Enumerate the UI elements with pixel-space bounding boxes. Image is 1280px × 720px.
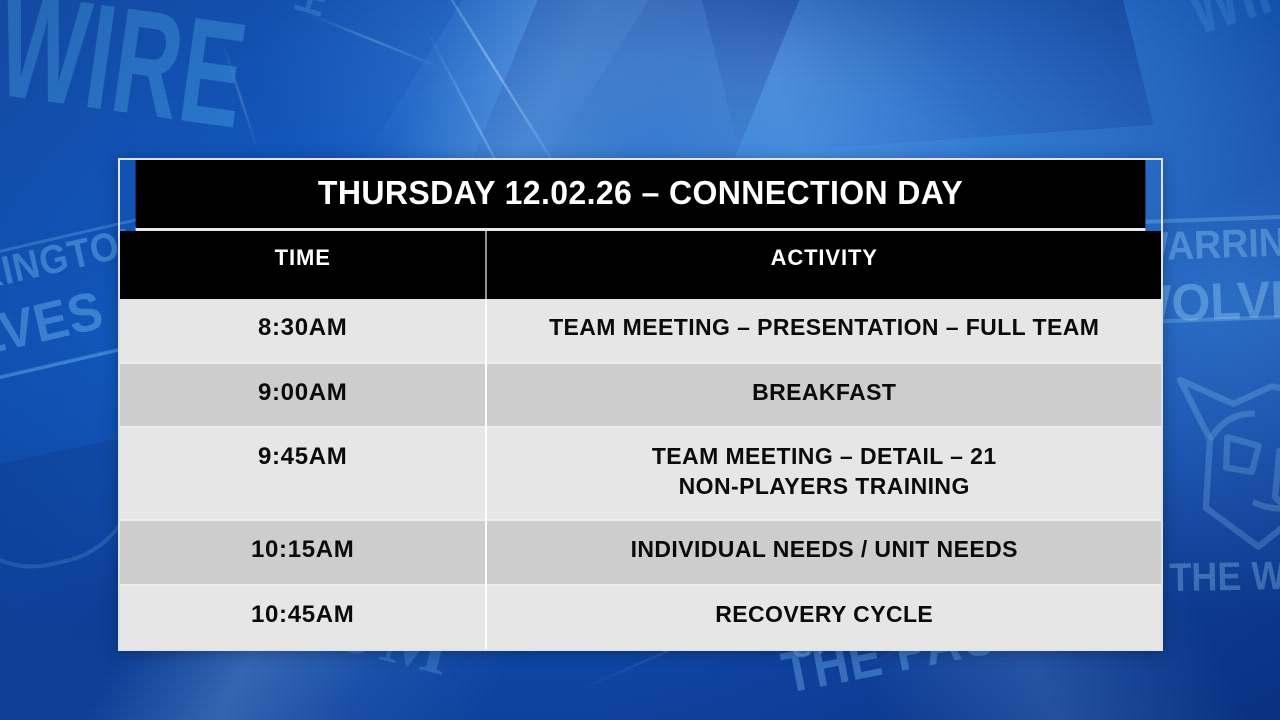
table-row: 10:45AMRECOVERY CYCLE	[120, 585, 1161, 649]
schedule-panel: THURSDAY 12.02.26 – CONNECTION DAY TIME …	[118, 158, 1163, 651]
cell-time: 10:15AM	[120, 520, 486, 585]
watermark-hardest-vertical: HARDEST	[290, 0, 372, 20]
activity-line-1: INDIVIDUAL NEEDS / UNIT NEEDS	[497, 535, 1151, 564]
watermark-wire-top-left: WIRE	[0, 0, 254, 145]
cell-activity: RECOVERY CYCLE	[486, 585, 1161, 649]
slide-canvas: WIRE WIRE HARDEST WARRINGTON WOLVES WARR…	[0, 0, 1280, 720]
schedule-table-body: 8:30AMTEAM MEETING – PRESENTATION – FULL…	[120, 299, 1161, 649]
crest-right-line3: THE WIRE	[1169, 553, 1280, 601]
table-row: 9:00AMBREAKFAST	[120, 363, 1161, 428]
schedule-header-row: TIME ACTIVITY	[120, 231, 1161, 299]
cell-activity: BREAKFAST	[486, 363, 1161, 428]
background-wedge-shape	[666, 0, 1154, 154]
cell-activity: TEAM MEETING – PRESENTATION – FULL TEAM	[486, 299, 1161, 363]
column-header-time: TIME	[120, 231, 486, 299]
table-row: 8:30AMTEAM MEETING – PRESENTATION – FULL…	[120, 299, 1161, 363]
cell-time: 9:45AM	[120, 427, 486, 520]
table-row: 10:15AMINDIVIDUAL NEEDS / UNIT NEEDS	[120, 520, 1161, 585]
background-light-ray	[305, 12, 445, 70]
schedule-table-head: TIME ACTIVITY	[120, 231, 1161, 299]
cell-time: 8:30AM	[120, 299, 486, 363]
activity-line-1: RECOVERY CYCLE	[497, 600, 1151, 629]
activity-line-1: TEAM MEETING – DETAIL – 21	[497, 442, 1151, 471]
schedule-table: TIME ACTIVITY 8:30AMTEAM MEETING – PRESE…	[120, 231, 1161, 649]
activity-line-2: NON-PLAYERS TRAINING	[497, 472, 1151, 501]
cell-time: 9:00AM	[120, 363, 486, 428]
watermark-wire-top-right: WIRE	[1175, 0, 1280, 46]
cell-activity: TEAM MEETING – DETAIL – 21NON-PLAYERS TR…	[486, 427, 1161, 520]
activity-line-1: BREAKFAST	[497, 378, 1151, 407]
column-header-activity: ACTIVITY	[486, 231, 1161, 299]
schedule-title: THURSDAY 12.02.26 – CONNECTION DAY	[136, 160, 1146, 231]
activity-line-1: TEAM MEETING – PRESENTATION – FULL TEAM	[497, 313, 1151, 342]
table-row: 9:45AMTEAM MEETING – DETAIL – 21NON-PLAY…	[120, 427, 1161, 520]
cell-activity: INDIVIDUAL NEEDS / UNIT NEEDS	[486, 520, 1161, 585]
cell-time: 10:45AM	[120, 585, 486, 649]
